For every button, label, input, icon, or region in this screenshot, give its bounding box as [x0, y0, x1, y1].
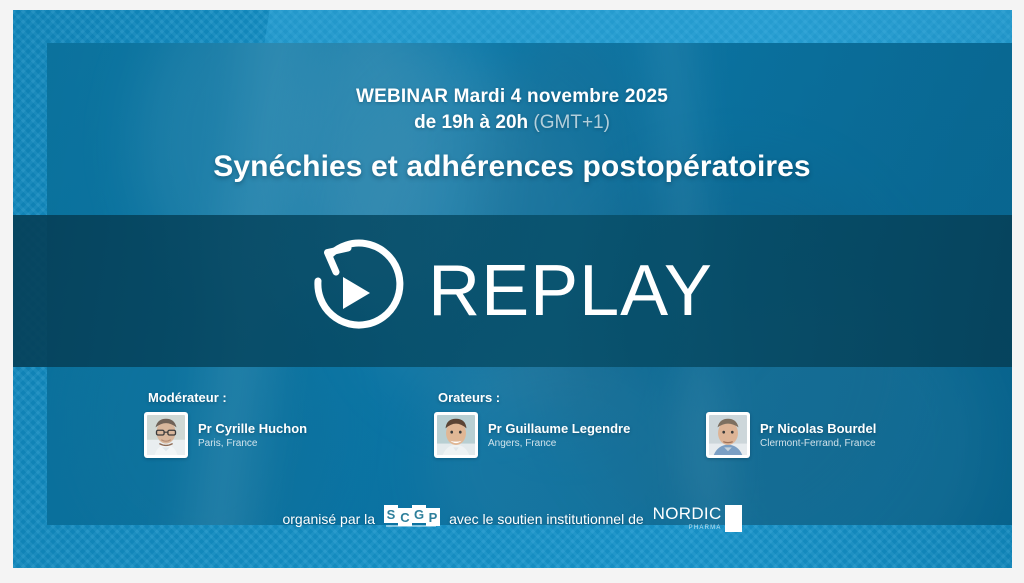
avatar-photo-legendre [437, 415, 475, 455]
header-block: WEBINAR Mardi 4 novembre 2025 de 19h à 2… [0, 84, 1024, 184]
person-name: Pr Guillaume Legendre [488, 420, 630, 437]
svg-text:S: S [387, 507, 396, 522]
person-text: Pr Cyrille Huchon Paris, France [198, 420, 307, 451]
person-city: Paris, France [198, 437, 307, 451]
replay-label: REPLAY [428, 255, 713, 327]
webinar-replay-slide: WEBINAR Mardi 4 novembre 2025 de 19h à 2… [0, 0, 1024, 583]
institutional-support-text: avec le soutien institutionnel de [449, 510, 644, 528]
scgp-logo[interactable]: S C G P [384, 503, 440, 536]
webinar-time-line: de 19h à 20h (GMT+1) [0, 110, 1024, 136]
avatar [434, 412, 478, 458]
person-card-speaker-2: Pr Nicolas Bourdel Clermont-Ferrand, Fra… [706, 412, 876, 458]
person-city: Clermont-Ferrand, France [760, 437, 876, 451]
speakers-section: Modérateur : Orateurs : [0, 390, 1024, 480]
person-card-speaker-1: Pr Guillaume Legendre Angers, France [434, 412, 630, 458]
person-name: Pr Cyrille Huchon [198, 420, 307, 437]
avatar-photo-huchon [147, 415, 185, 455]
svg-text:C: C [400, 510, 410, 525]
organized-by-text: organisé par la [282, 510, 375, 528]
footer-sponsors-row: organisé par la S C G P avec le soutien … [0, 503, 1024, 535]
replay-banner[interactable]: REPLAY [13, 215, 1012, 367]
speakers-role-label: Orateurs : [438, 390, 500, 405]
svg-text:G: G [414, 507, 424, 522]
avatar [706, 412, 750, 458]
person-text: Pr Nicolas Bourdel Clermont-Ferrand, Fra… [760, 420, 876, 451]
webinar-date-line: WEBINAR Mardi 4 novembre 2025 [0, 84, 1024, 110]
nordic-pharma-subtext: PHARMA [689, 524, 722, 533]
webinar-timezone: (GMT+1) [533, 112, 610, 133]
nordic-text-wrap: NORDIC PHARMA [653, 505, 722, 533]
page-title: Synéchies et adhérences postopératoires [0, 150, 1024, 184]
person-text: Pr Guillaume Legendre Angers, France [488, 420, 630, 451]
avatar [144, 412, 188, 458]
replay-banner-content: REPLAY [300, 237, 713, 346]
person-city: Angers, France [488, 437, 630, 451]
replay-circular-arrow-play-icon[interactable] [300, 237, 404, 346]
moderator-role-label: Modérateur : [148, 390, 227, 405]
avatar-photo-bourdel [709, 415, 747, 455]
svg-text:P: P [429, 510, 438, 525]
nordic-pharma-logo[interactable]: NORDIC PHARMA [653, 505, 742, 533]
person-card-moderator: Pr Cyrille Huchon Paris, France [144, 412, 307, 458]
nordic-wordmark: NORDIC [653, 505, 722, 523]
webinar-time-text: de 19h à 20h [414, 112, 528, 133]
nordic-white-block-icon [725, 505, 742, 532]
person-name: Pr Nicolas Bourdel [760, 420, 876, 437]
